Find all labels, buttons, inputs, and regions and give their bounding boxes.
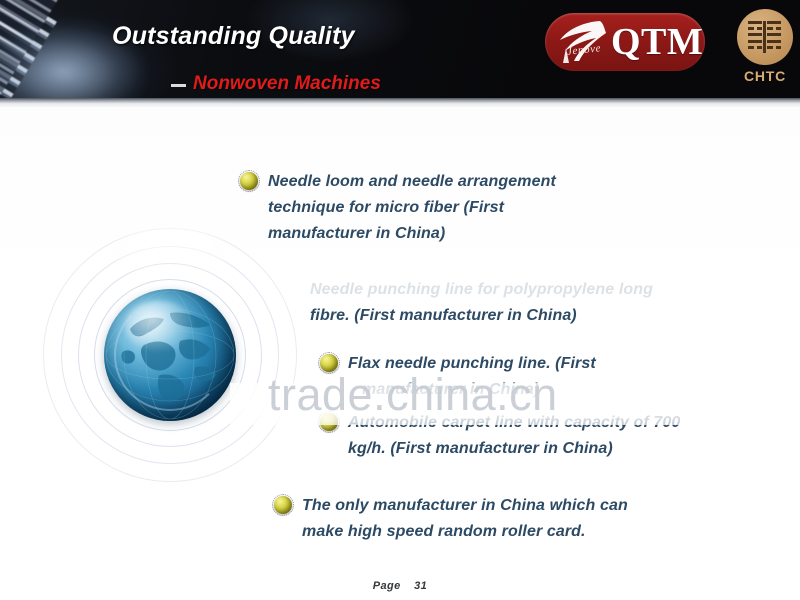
bullet-line: Needle loom and needle arrangement	[268, 169, 556, 195]
bullet-line: technique for micro fiber (First	[268, 195, 556, 221]
bullet-line: The only manufacturer in China which can	[302, 493, 628, 519]
slide-canvas: Outstanding Quality Nonwoven Machines Je…	[0, 0, 800, 600]
bullet-line: kg/h. (First manufacturer in China)	[348, 436, 680, 462]
slide-header: Outstanding Quality Nonwoven Machines Je…	[0, 0, 800, 98]
trigram-glyph-icon	[748, 20, 782, 54]
yellow-sphere-bullet-icon	[272, 494, 294, 516]
chtc-label: CHTC	[737, 68, 793, 84]
page-title: Outstanding Quality	[112, 22, 355, 51]
chtc-circle	[737, 9, 793, 65]
qtm-wordmark: QTM	[611, 19, 703, 65]
bullet-line: fibre. (First manufacturer in China)	[310, 303, 653, 329]
page-subtitle-group: Nonwoven Machines	[171, 73, 381, 95]
bullet-line: manufacturer in China)	[268, 221, 556, 247]
chtc-logo: CHTC	[737, 9, 793, 89]
bullet-text: Needle loom and needle arrangement techn…	[268, 169, 556, 247]
flag-emblem-icon	[554, 18, 612, 66]
slide-body: Needle loom and needle arrangement techn…	[0, 107, 800, 600]
bullet-text: Needle punching line for polypropylene l…	[310, 277, 653, 329]
list-item: Needle punching line for polypropylene l…	[310, 277, 653, 329]
list-item: Needle loom and needle arrangement techn…	[238, 169, 556, 247]
watermark-text: trade.china.cn	[268, 369, 558, 421]
bullet-list: Needle loom and needle arrangement techn…	[0, 107, 800, 600]
page-label: Page	[373, 580, 401, 592]
qtm-logo: Jenove QTM	[545, 13, 705, 71]
bullet-text: The only manufacturer in China which can…	[302, 493, 628, 545]
dash-icon	[171, 84, 186, 87]
bullet-line-occluded: Needle punching line for polypropylene l…	[310, 277, 653, 303]
page-number: 31	[414, 580, 427, 592]
list-item: The only manufacturer in China which can…	[272, 493, 628, 545]
page-subtitle: Nonwoven Machines	[193, 73, 381, 95]
footer: Page 31	[0, 580, 800, 592]
bullet-line: make high speed random roller card.	[302, 519, 628, 545]
yellow-sphere-bullet-icon	[238, 170, 260, 192]
header-divider	[0, 98, 800, 107]
